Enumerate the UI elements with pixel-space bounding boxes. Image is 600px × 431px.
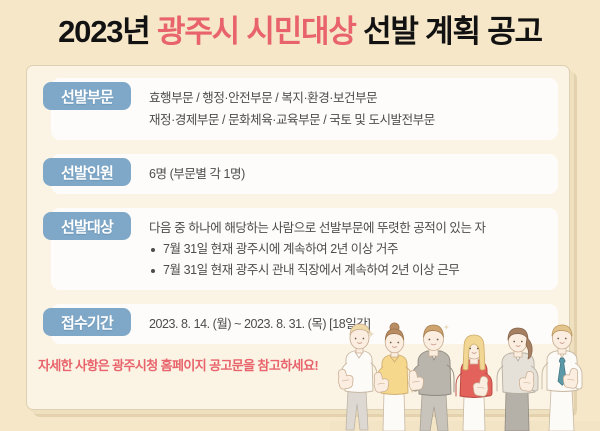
page-title: 2023년 광주시 시민대상 선발 계획 공고 [0, 16, 600, 47]
info-row-content: 6명 (부문별 각 1명) [149, 163, 553, 185]
sparkle-icon: ✦ [443, 324, 450, 332]
title-lead: 2023년 [58, 14, 157, 49]
row-label-badge: 선발부문 [43, 82, 131, 110]
info-row: 선발부문효행부문 / 행정·안전부문 / 복지·환경·보건부문재정·경제부문 /… [27, 78, 570, 140]
info-row-bullet: 7월 31일 현재 광주시 관내 직장에서 계속하여 2년 이상 근무 [149, 260, 553, 281]
title-accent: 광주시 시민대상 [157, 14, 356, 49]
info-row: 접수기간2023. 8. 14. (월) ~ 2023. 8. 31. (목) … [27, 304, 570, 344]
row-label-badge: 접수기간 [43, 308, 131, 336]
info-row-content: 다음 중 하나에 해당하는 사람으로 선발부문에 뚜렷한 공적이 있는 자7월 … [149, 217, 553, 281]
info-row-line: 다음 중 하나에 해당하는 사람으로 선발부문에 뚜렷한 공적이 있는 자 [149, 217, 553, 239]
info-row-bullet: 7월 31일 현재 광주시에 계속하여 2년 이상 거주 [149, 239, 553, 260]
info-row: 선발인원6명 (부문별 각 1명) [27, 154, 570, 194]
info-row-content: 2023. 8. 14. (월) ~ 2023. 8. 31. (목) [18일… [149, 313, 553, 335]
poster-root: 2023년 광주시 시민대상 선발 계획 공고 선발부문효행부문 / 행정·안전… [0, 0, 600, 431]
row-label-badge: 선발인원 [43, 158, 131, 186]
info-row-line: 재정·경제부문 / 문화체육·교육부문 / 국토 및 도시발전부문 [149, 109, 553, 131]
title-tail: 선발 계획 공고 [356, 14, 542, 49]
info-row-line: 효행부문 / 행정·안전부문 / 복지·환경·보건부문 [149, 87, 553, 109]
info-row: 선발대상다음 중 하나에 해당하는 사람으로 선발부문에 뚜렷한 공적이 있는 … [27, 208, 570, 290]
info-row-bullet-list: 7월 31일 현재 광주시에 계속하여 2년 이상 거주7월 31일 현재 광주… [149, 239, 553, 281]
info-row-content: 효행부문 / 행정·안전부문 / 복지·환경·보건부문재정·경제부문 / 문화체… [149, 87, 553, 131]
info-row-line: 6명 (부문별 각 1명) [149, 163, 553, 185]
info-row-line: 2023. 8. 14. (월) ~ 2023. 8. 31. (목) [18일… [149, 313, 553, 335]
row-label-badge: 선발대상 [43, 212, 131, 240]
footer-note: 자세한 사항은 광주시청 홈페이지 공고문을 참고하세요! [38, 355, 318, 374]
sparkle-icon: ✦ [366, 330, 375, 341]
